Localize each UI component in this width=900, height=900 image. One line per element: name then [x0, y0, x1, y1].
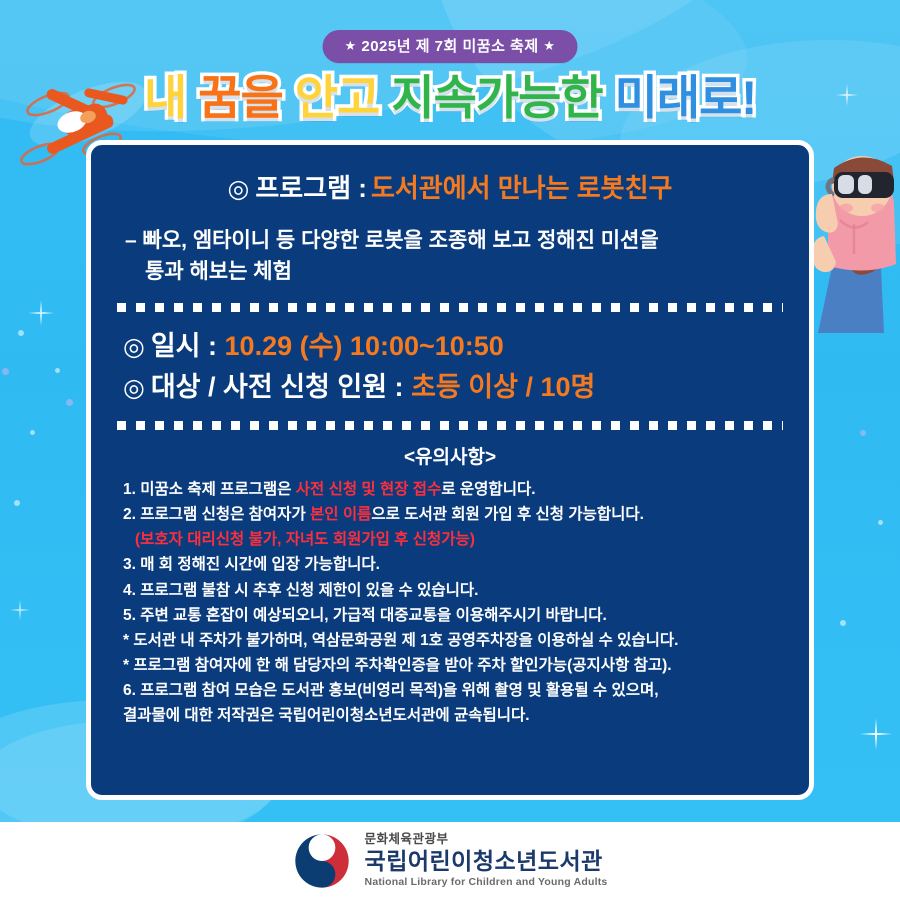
notice-text: 4. 프로그램 불참 시 추후 신청 제한이 있을 수 있습니다. — [123, 582, 478, 599]
decor-dot — [55, 368, 60, 373]
info-card: ◎프로그램 :도서관에서 만나는 로봇친구 – 빠오, 엠타이니 등 다양한 로… — [86, 140, 814, 800]
program-label: 프로그램 : — [255, 173, 367, 203]
star-right-icon: ★ — [543, 38, 555, 53]
bullet-icon: ◎ — [228, 175, 250, 203]
taegeuk-logo-icon — [293, 832, 351, 890]
notice-text: 결과물에 대한 저작권은 국립어린이청소년도서관에 균속됩니다. — [123, 707, 530, 724]
footer-logo: 문화체육관광부 국립어린이청소년도서관 National Library for… — [0, 822, 900, 900]
title-part-4: 지속가능한 — [391, 71, 602, 124]
sparkle-star-icon — [10, 600, 30, 620]
title-part-1: 내 — [144, 71, 186, 124]
notice-heading: <유의사항> — [117, 442, 783, 469]
datetime-label: 일시 : — [151, 331, 217, 361]
description-line-1: – 빠오, 엠타이니 등 다양한 로봇을 조종해 보고 정해진 미션을 — [125, 229, 659, 252]
notice-text: 6. 프로그램 참여 모습은 도서관 홍보(비영리 목적)을 위해 촬영 및 활… — [123, 682, 659, 699]
notice-text: 로 운영합니다. — [441, 481, 535, 498]
description-line-2: 통과 해보는 체험 — [125, 257, 783, 287]
dashed-divider-bottom — [117, 421, 783, 430]
datetime-value: 10.29 (수) 10:00~10:50 — [225, 331, 504, 361]
bullet-icon: ◎ — [123, 374, 145, 402]
notice-line: 5. 주변 교통 혼잡이 예상되오니, 가급적 대중교통을 이용해주시기 바랍니… — [123, 603, 783, 628]
bullet-icon: ◎ — [123, 333, 145, 361]
notice-line: 2. 프로그램 신청은 참여자가 본인 이름으로 도서관 회원 가입 후 신청 … — [123, 502, 783, 527]
notice-highlight: (보호자 대리신청 불가, 자녀도 회원가입 후 신청가능) — [135, 531, 475, 548]
notice-text: * 도서관 내 주차가 불가하며, 역삼문화공원 제 1호 공영주차장을 이용하… — [123, 632, 678, 649]
program-value: 도서관에서 만나는 로봇친구 — [371, 173, 673, 203]
notice-line: * 프로그램 참여자에 한 해 담당자의 주차확인증을 받아 주차 할인가능(공… — [123, 653, 783, 678]
notice-text: 으로 도서관 회원 가입 후 신청 가능합니다. — [371, 506, 644, 523]
program-row: ◎프로그램 :도서관에서 만나는 로봇친구 — [117, 173, 783, 204]
notice-line: * 도서관 내 주차가 불가하며, 역삼문화공원 제 1호 공영주차장을 이용하… — [123, 628, 783, 653]
title-part-2: 꿈을 — [198, 71, 282, 124]
notice-line: 1. 미꿈소 축제 프로그램은 사전 신청 및 현장 접수로 운영합니다. — [123, 477, 783, 502]
poster-title: 내 꿈을 안고 지속가능한 미래로! — [0, 74, 900, 121]
notice-list: 1. 미꿈소 축제 프로그램은 사전 신청 및 현장 접수로 운영합니다.2. … — [117, 477, 783, 728]
notice-line: 3. 매 회 정해진 시간에 입장 가능합니다. — [123, 552, 783, 577]
decor-dot — [66, 399, 73, 406]
notice-text: 1. 미꿈소 축제 프로그램은 — [123, 481, 296, 498]
target-label: 대상 / 사전 신청 인원 : — [151, 372, 404, 402]
decor-dot — [2, 368, 9, 375]
footer-ministry: 문화체육관광부 — [365, 833, 608, 847]
dashed-divider-top — [117, 303, 783, 312]
notice-line: 4. 프로그램 불참 시 추후 신청 제한이 있을 수 있습니다. — [123, 578, 783, 603]
star-left-icon: ★ — [345, 38, 357, 53]
notice-text: 2. 프로그램 신청은 참여자가 — [123, 506, 310, 523]
notice-text: 3. 매 회 정해진 시간에 입장 가능합니다. — [123, 556, 380, 573]
notice-line: (보호자 대리신청 불가, 자녀도 회원가입 후 신청가능) — [123, 527, 783, 552]
festival-badge-text: 2025년 제 7회 미꿈소 축제 — [361, 38, 538, 55]
decor-dot — [30, 430, 35, 435]
notice-highlight: 사전 신청 및 현장 접수 — [296, 481, 442, 498]
notice-highlight: 본인 이름 — [310, 506, 371, 523]
footer-library-en: National Library for Children and Young … — [365, 877, 608, 889]
notice-line: 6. 프로그램 참여 모습은 도서관 홍보(비영리 목적)을 위해 촬영 및 활… — [123, 678, 783, 703]
notice-line: 결과물에 대한 저작권은 국립어린이청소년도서관에 균속됩니다. — [123, 703, 783, 728]
datetime-row: ◎일시 : 10.29 (수) 10:00~10:50 — [117, 326, 783, 367]
poster-root: ★ 2025년 제 7회 미꿈소 축제 ★ 내 꿈을 안고 지속가능한 미래로!… — [0, 0, 900, 900]
decor-dot — [878, 520, 883, 525]
decor-dot — [18, 330, 24, 336]
target-value: 초등 이상 / 10명 — [411, 372, 595, 402]
decor-dot — [840, 620, 846, 626]
footer-library-kr: 국립어린이청소년도서관 — [365, 849, 608, 874]
notice-text: 5. 주변 교통 혼잡이 예상되오니, 가급적 대중교통을 이용해주시기 바랍니… — [123, 607, 607, 624]
sparkle-star-icon — [28, 300, 54, 326]
footer-text: 문화체육관광부 국립어린이청소년도서관 National Library for… — [365, 833, 608, 889]
title-part-3: 안고 — [295, 71, 379, 124]
decor-dot — [860, 430, 866, 436]
program-description: – 빠오, 엠타이니 등 다양한 로봇을 조종해 보고 정해진 미션을 통과 해… — [117, 226, 783, 287]
sparkle-star-icon — [860, 718, 892, 750]
decor-dot — [14, 500, 20, 506]
target-row: ◎대상 / 사전 신청 인원 : 초등 이상 / 10명 — [117, 367, 783, 408]
title-part-5: 미래로! — [615, 71, 756, 124]
festival-badge: ★ 2025년 제 7회 미꿈소 축제 ★ — [323, 30, 578, 63]
notice-text: * 프로그램 참여자에 한 해 담당자의 주차확인증을 받아 주차 할인가능(공… — [123, 657, 672, 674]
